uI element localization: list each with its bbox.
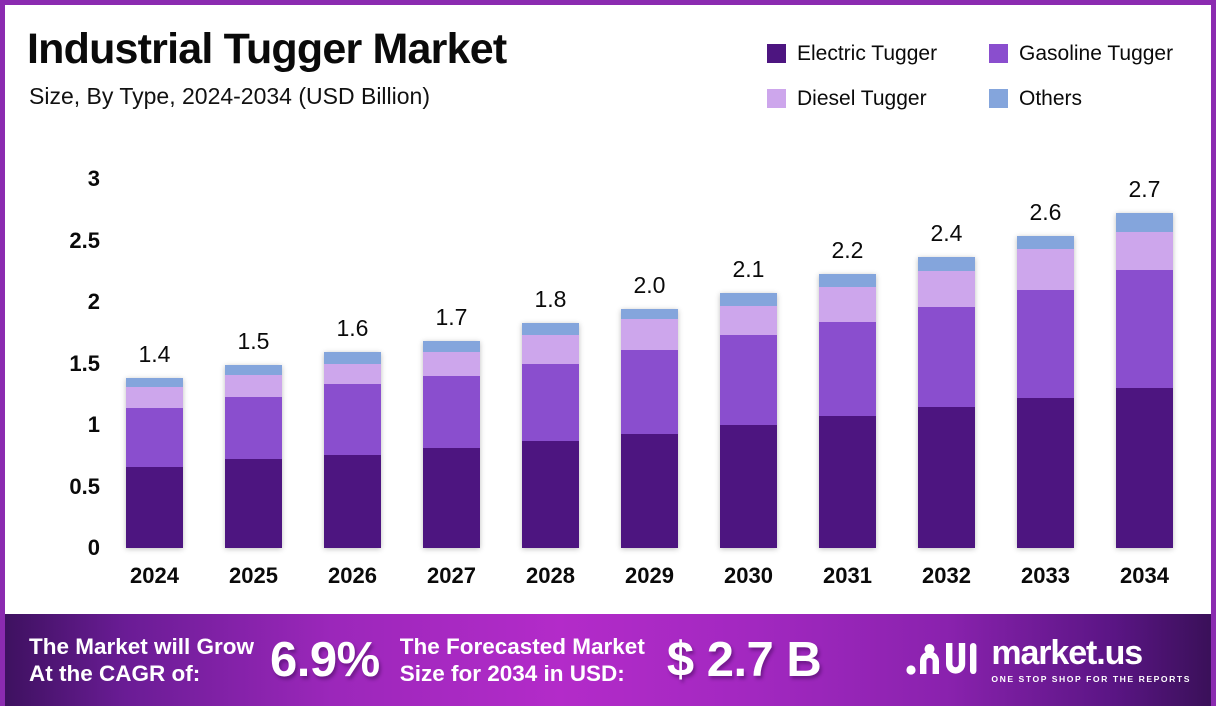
bar-segment[interactable]: [621, 434, 678, 548]
x-axis-tick-label: 2026: [302, 563, 403, 589]
forecast-label-line1: The Forecasted Market: [400, 633, 645, 660]
legend-label: Others: [1019, 87, 1082, 111]
bar-segment[interactable]: [126, 408, 183, 467]
bar-stack[interactable]: [1116, 213, 1173, 548]
bar-value-label: 2.7: [1094, 176, 1195, 203]
legend-label: Gasoline Tugger: [1019, 42, 1173, 66]
bar-value-label: 1.7: [401, 304, 502, 331]
bar-segment[interactable]: [423, 352, 480, 375]
bar-segment[interactable]: [423, 448, 480, 548]
bar-value-label: 2.0: [599, 272, 700, 299]
legend-item[interactable]: Electric Tugger: [767, 31, 989, 76]
x-axis-tick-label: 2032: [896, 563, 997, 589]
brand-name: market.us: [991, 636, 1191, 670]
y-axis-tick-label: 2.5: [40, 228, 100, 254]
bar-segment[interactable]: [324, 384, 381, 454]
y-axis-tick-label: 1: [40, 412, 100, 438]
brand-logo: market.us ONE STOP SHOP FOR THE REPORTS: [906, 636, 1191, 684]
y-axis-tick-label: 2: [40, 289, 100, 315]
bar-segment[interactable]: [522, 441, 579, 548]
bar-value-label: 1.8: [500, 286, 601, 313]
bar-segment[interactable]: [621, 319, 678, 350]
bar-segment[interactable]: [126, 387, 183, 408]
bar-segment[interactable]: [819, 287, 876, 321]
cagr-label-line2: At the CAGR of:: [29, 660, 254, 687]
chart-page: Industrial Tugger Market Size, By Type, …: [0, 0, 1216, 706]
bar-segment[interactable]: [324, 352, 381, 363]
bar-segment[interactable]: [126, 467, 183, 548]
bar-segment[interactable]: [324, 364, 381, 385]
bar-segment[interactable]: [720, 306, 777, 336]
legend-item[interactable]: Gasoline Tugger: [989, 31, 1211, 76]
x-axis-tick-label: 2033: [995, 563, 1096, 589]
bar-segment[interactable]: [819, 274, 876, 288]
legend-label: Electric Tugger: [797, 42, 937, 66]
bar-stack[interactable]: [1017, 236, 1074, 548]
x-axis-tick-label: 2027: [401, 563, 502, 589]
bar-stack[interactable]: [621, 309, 678, 548]
legend-swatch-icon: [767, 44, 786, 63]
forecast-label: The Forecasted Market Size for 2034 in U…: [400, 633, 645, 688]
bar-value-label: 2.6: [995, 199, 1096, 226]
bar-segment[interactable]: [225, 397, 282, 460]
bar-stack[interactable]: [126, 378, 183, 548]
bar-segment[interactable]: [522, 335, 579, 363]
bar-segment[interactable]: [423, 341, 480, 352]
bar-segment[interactable]: [1116, 388, 1173, 548]
x-axis-tick-label: 2029: [599, 563, 700, 589]
page-title: Industrial Tugger Market: [27, 25, 506, 74]
bar-value-label: 2.4: [896, 220, 997, 247]
bar-segment[interactable]: [621, 309, 678, 319]
chart-header: Industrial Tugger Market Size, By Type, …: [5, 5, 1211, 133]
bar-stack[interactable]: [522, 323, 579, 548]
y-axis-tick-label: 0.5: [40, 474, 100, 500]
cagr-value: 6.9%: [270, 632, 380, 688]
cagr-label: The Market will Grow At the CAGR of:: [29, 633, 254, 688]
bar-segment[interactable]: [918, 257, 975, 272]
legend-swatch-icon: [989, 89, 1008, 108]
bar-segment[interactable]: [819, 322, 876, 417]
bar-segment[interactable]: [1017, 236, 1074, 250]
bar-value-label: 1.5: [203, 328, 304, 355]
bar-segment[interactable]: [225, 459, 282, 548]
y-axis: 00.511.522.53: [30, 133, 100, 603]
bar-segment[interactable]: [225, 375, 282, 397]
legend-item[interactable]: Others: [989, 76, 1211, 121]
cagr-label-line1: The Market will Grow: [29, 633, 254, 660]
footer-banner: The Market will Grow At the CAGR of: 6.9…: [5, 614, 1211, 706]
bar-segment[interactable]: [126, 378, 183, 387]
x-axis-tick-label: 2025: [203, 563, 304, 589]
y-axis-tick-label: 3: [40, 166, 100, 192]
bar-segment[interactable]: [720, 425, 777, 548]
bar-segment[interactable]: [720, 293, 777, 305]
bar-stack[interactable]: [819, 274, 876, 548]
bar-segment[interactable]: [918, 307, 975, 407]
x-axis-tick-label: 2031: [797, 563, 898, 589]
bar-segment[interactable]: [1116, 213, 1173, 231]
bar-stack[interactable]: [720, 293, 777, 548]
bar-segment[interactable]: [1017, 290, 1074, 398]
legend-item[interactable]: Diesel Tugger: [767, 76, 989, 121]
y-axis-tick-label: 1.5: [40, 351, 100, 377]
bar-segment[interactable]: [423, 376, 480, 449]
bar-value-label: 2.1: [698, 256, 799, 283]
bar-segment[interactable]: [324, 455, 381, 548]
bar-stack[interactable]: [225, 365, 282, 548]
bar-segment[interactable]: [918, 271, 975, 307]
bar-segment[interactable]: [720, 335, 777, 425]
page-subtitle: Size, By Type, 2024-2034 (USD Billion): [29, 83, 430, 110]
bar-segment[interactable]: [522, 364, 579, 441]
brand-text: market.us ONE STOP SHOP FOR THE REPORTS: [991, 636, 1191, 684]
x-axis-tick-label: 2024: [104, 563, 205, 589]
bar-segment[interactable]: [1017, 249, 1074, 290]
legend-label: Diesel Tugger: [797, 87, 927, 111]
forecast-value: $ 2.7 B: [667, 632, 821, 688]
brand-tagline: ONE STOP SHOP FOR THE REPORTS: [991, 674, 1191, 684]
legend-swatch-icon: [767, 89, 786, 108]
bar-segment[interactable]: [1116, 270, 1173, 388]
forecast-label-line2: Size for 2034 in USD:: [400, 660, 645, 687]
bar-segment[interactable]: [918, 407, 975, 548]
legend-swatch-icon: [989, 44, 1008, 63]
chart-legend: Electric TuggerGasoline TuggerDiesel Tug…: [767, 31, 1211, 121]
y-axis-tick-label: 0: [40, 535, 100, 561]
market-us-logo-icon: [906, 637, 982, 684]
bar-group: 1.420241.520251.620261.720271.820282.020…: [110, 133, 1205, 603]
bar-segment[interactable]: [225, 365, 282, 375]
bar-value-label: 1.4: [104, 341, 205, 368]
bar-segment[interactable]: [1017, 398, 1074, 548]
bar-value-label: 2.2: [797, 237, 898, 264]
bar-segment[interactable]: [522, 323, 579, 335]
bar-value-label: 1.6: [302, 315, 403, 342]
bar-stack[interactable]: [918, 257, 975, 549]
plot-area: 00.511.522.53 1.420241.520251.620261.720…: [5, 133, 1211, 603]
bar-segment[interactable]: [621, 350, 678, 434]
x-axis-tick-label: 2030: [698, 563, 799, 589]
bar-segment[interactable]: [1116, 232, 1173, 270]
bar-stack[interactable]: [423, 341, 480, 548]
bar-stack[interactable]: [324, 352, 381, 548]
x-axis-tick-label: 2034: [1094, 563, 1195, 589]
bar-segment[interactable]: [819, 416, 876, 548]
x-axis-tick-label: 2028: [500, 563, 601, 589]
